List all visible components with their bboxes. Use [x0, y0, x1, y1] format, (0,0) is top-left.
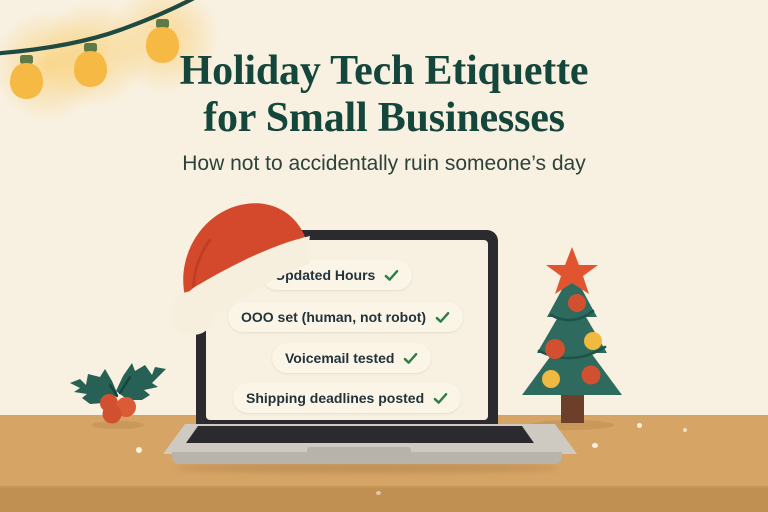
tree-ornament: [542, 370, 560, 388]
christmas-tree-icon: [505, 245, 640, 430]
page-title: Holiday Tech Etiquette for Small Busines…: [0, 48, 768, 142]
tree-ornament: [545, 339, 565, 359]
laptop-shadow: [176, 463, 558, 473]
holly-berry: [103, 405, 122, 424]
desk-speck: [136, 447, 142, 453]
hat-pompom: [171, 291, 215, 335]
checklist-item[interactable]: Shipping deadlines posted: [233, 383, 461, 413]
laptop-trackpad: [307, 447, 411, 456]
check-icon: [403, 351, 418, 366]
checklist-item-label: Shipping deadlines posted: [246, 390, 424, 406]
tree-ornament: [584, 332, 602, 350]
checklist-item[interactable]: Voicemail tested: [272, 343, 431, 373]
illustration-canvas: Holiday Tech Etiquette for Small Busines…: [0, 0, 768, 512]
laptop-keyboard: [186, 426, 534, 443]
check-icon: [435, 310, 450, 325]
page-subtitle: How not to accidentally ruin someone’s d…: [0, 152, 768, 176]
desk-speck: [683, 428, 687, 432]
desk-speck: [592, 443, 598, 448]
page-title-line-2: for Small Businesses: [0, 95, 768, 142]
desk-speck: [376, 491, 381, 495]
holly-icon: [60, 355, 172, 430]
tree-ornament: [582, 366, 601, 385]
page-title-line-1: Holiday Tech Etiquette: [0, 48, 768, 95]
desk-front-edge: [0, 488, 768, 512]
santa-hat-icon: [158, 196, 318, 341]
checklist-item-label: Voicemail tested: [285, 350, 394, 366]
check-icon: [433, 391, 448, 406]
check-icon: [384, 268, 399, 283]
tree-ornament: [568, 294, 586, 312]
